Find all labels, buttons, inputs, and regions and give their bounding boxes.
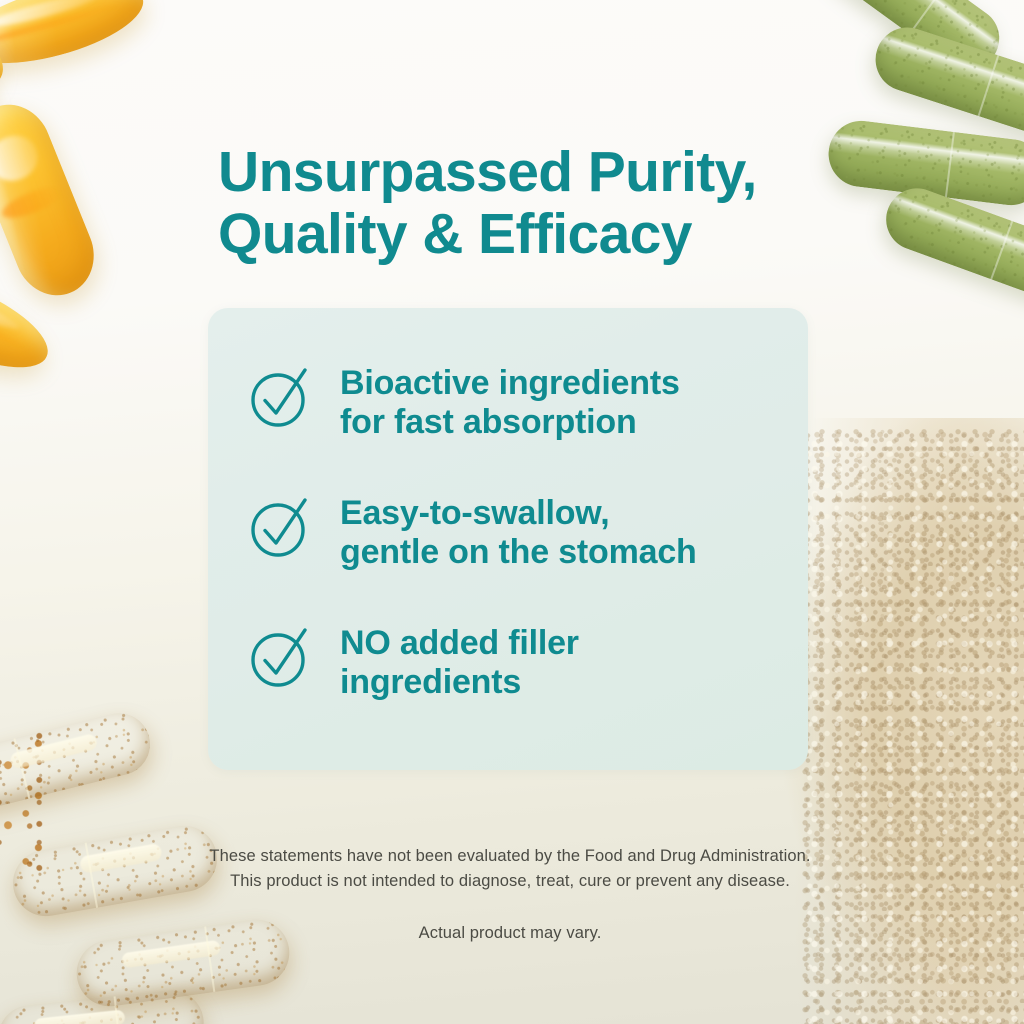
benefit-label: NO added filler ingredients	[340, 622, 579, 702]
headline-line-1: Unsurpassed Purity,	[218, 141, 858, 203]
softgel-capsule	[0, 0, 16, 105]
turmeric-powder-crumbs	[0, 728, 54, 878]
green-capsule	[867, 19, 1024, 145]
disclaimer-block: These statements have not been evaluated…	[196, 844, 824, 946]
benefits-card: Bioactive ingredients for fast absorptio…	[208, 308, 808, 770]
green-capsule	[877, 180, 1024, 307]
benefit-label: Easy-to-swallow, gentle on the stomach	[340, 492, 697, 572]
benefit-item: Easy-to-swallow, gentle on the stomach	[248, 492, 697, 572]
check-circle-icon	[248, 624, 314, 690]
yellow-softgel-group	[0, 0, 230, 410]
softgel-capsule	[0, 93, 107, 308]
marketing-image-canvas: Unsurpassed Purity, Quality & Efficacy B…	[0, 0, 1024, 1024]
page-title: Unsurpassed Purity, Quality & Efficacy	[218, 141, 858, 265]
benefit-item: NO added filler ingredients	[248, 622, 579, 702]
softgel-capsule	[0, 0, 151, 79]
product-variation-note: Actual product may vary.	[196, 921, 824, 946]
turmeric-capsule	[0, 707, 157, 816]
check-circle-icon	[248, 364, 314, 430]
check-circle-icon	[248, 494, 314, 560]
benefit-label: Bioactive ingredients for fast absorptio…	[340, 362, 680, 442]
softgel-capsule	[0, 258, 60, 386]
turmeric-capsule	[0, 987, 207, 1024]
turmeric-capsule	[8, 821, 222, 922]
benefit-item: Bioactive ingredients for fast absorptio…	[248, 362, 680, 442]
headline-line-2: Quality & Efficacy	[218, 203, 858, 265]
green-capsule	[816, 0, 1011, 82]
fda-disclaimer-text: These statements have not been evaluated…	[209, 847, 810, 890]
